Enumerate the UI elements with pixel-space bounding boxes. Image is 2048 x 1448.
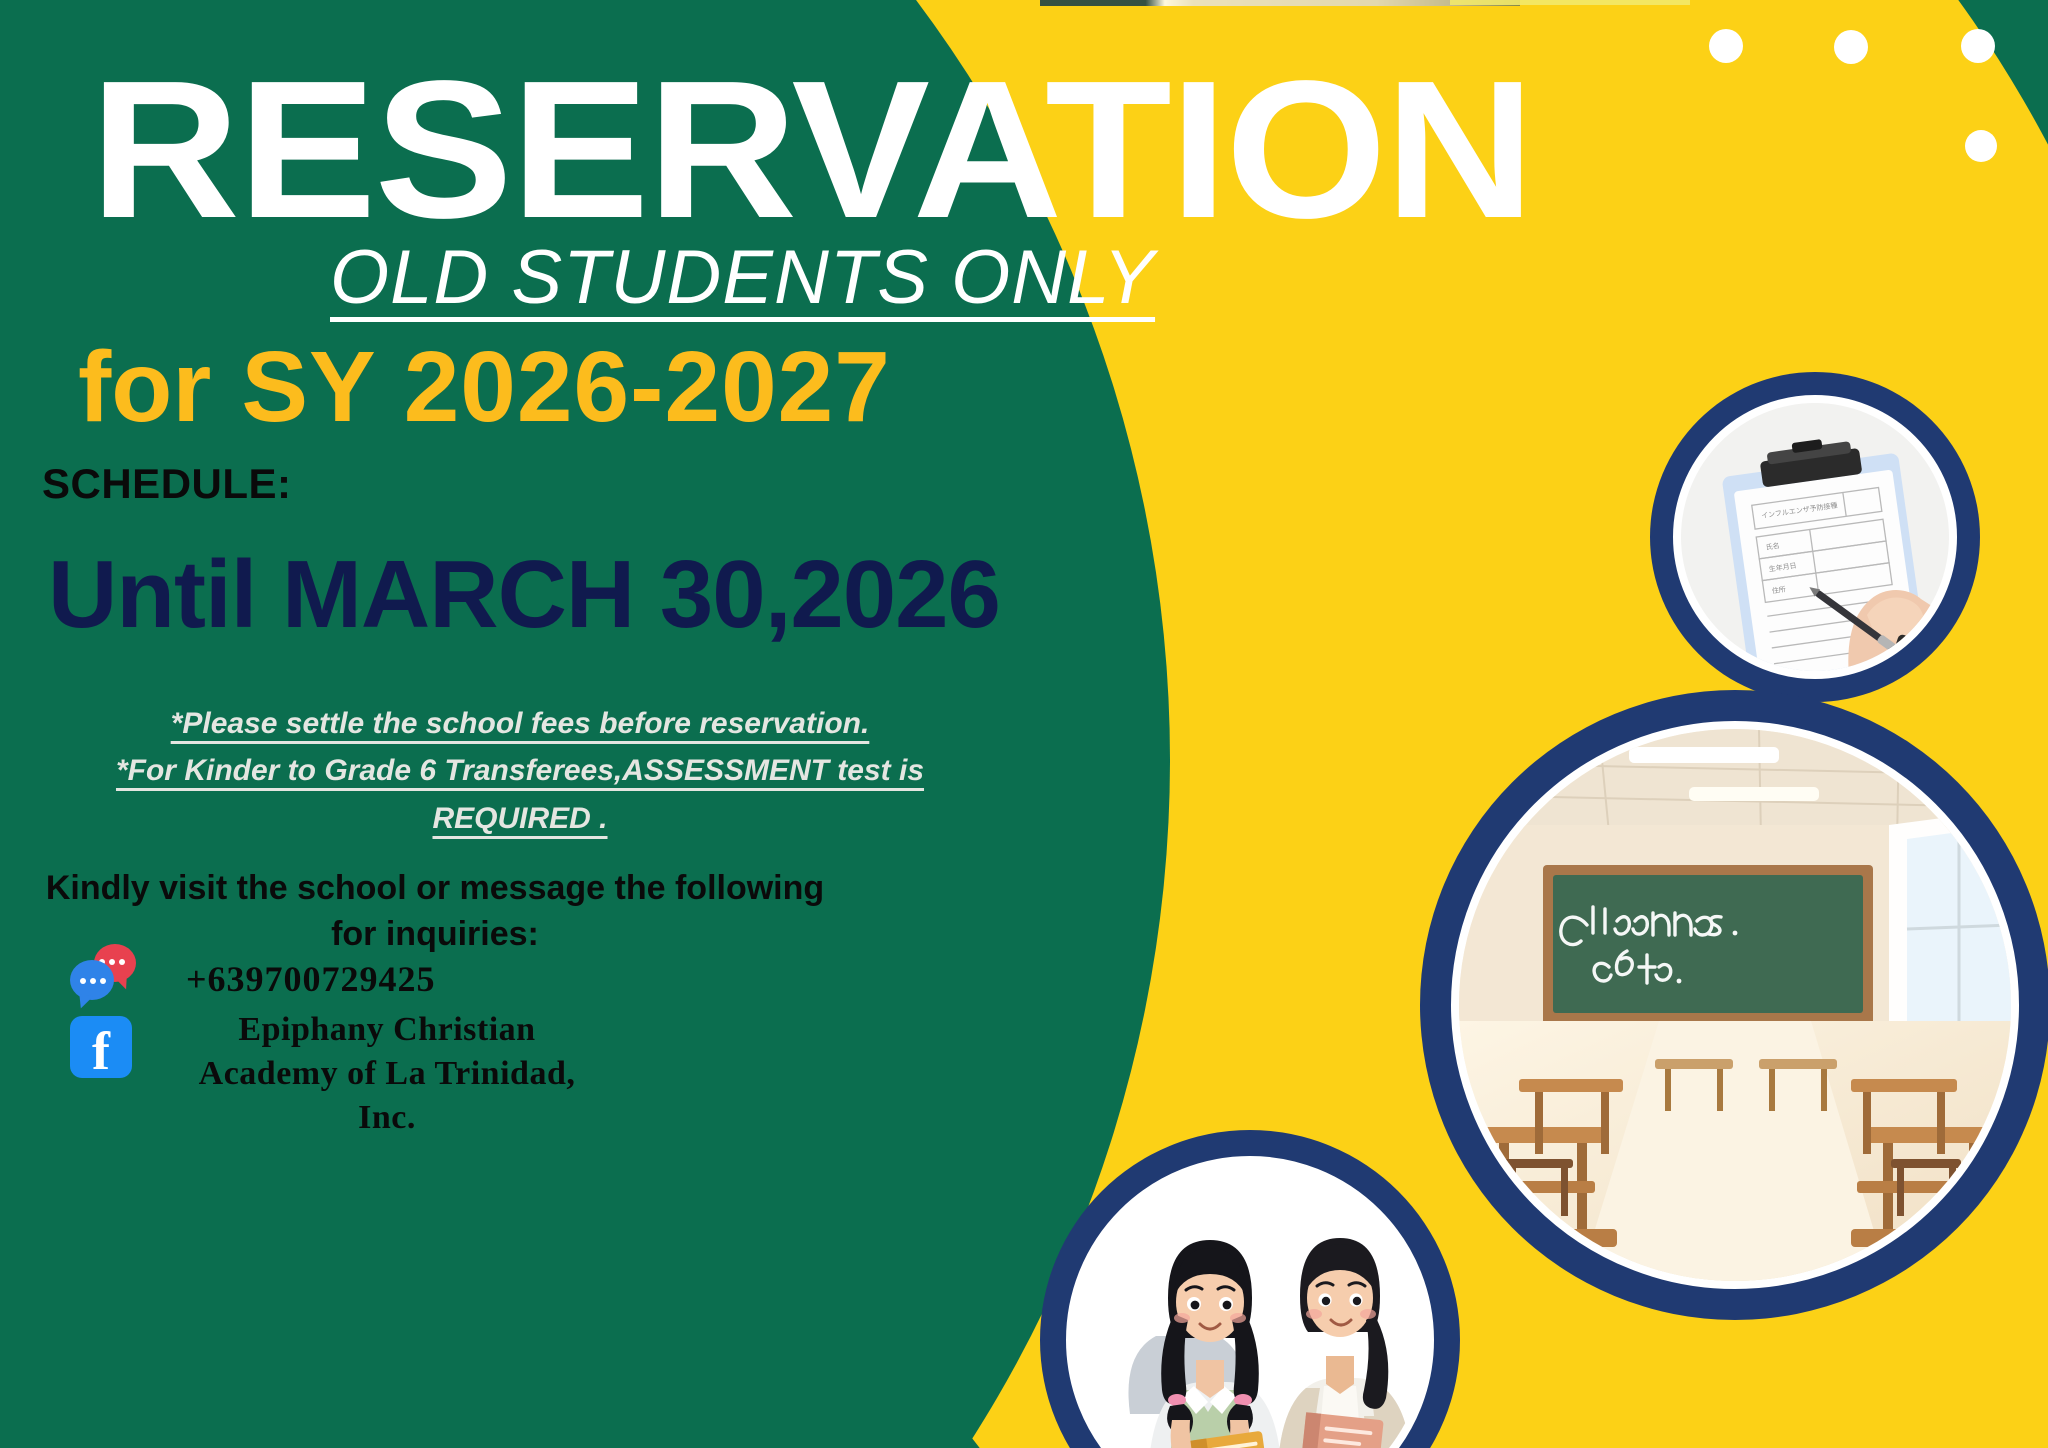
deadline-prefix: Until <box>48 541 256 648</box>
schedule-label: SCHEDULE: <box>42 460 292 508</box>
facebook-icon[interactable]: f <box>70 1016 132 1078</box>
inquiry-heading: Kindly visit the school or message the f… <box>40 866 830 958</box>
note-item: *Please settle the school fees before re… <box>171 700 870 747</box>
clipboard-photo: インフルエンザ予防接種 氏名 生年月日 住所 <box>1673 395 1957 679</box>
deadline-date: MARCH 30,2026 <box>282 541 1000 648</box>
contact-phone-number[interactable]: +639700729425 <box>186 958 436 1000</box>
messenger-dots-blue <box>80 978 106 984</box>
deadline-line: Until MARCH 30,2026 <box>48 540 1000 650</box>
school-year-value: SY 2026-2027 <box>241 330 891 445</box>
note-item: REQUIRED . <box>432 795 607 842</box>
photo-circle-classroom <box>1420 690 2048 1320</box>
classroom-illustration <box>1459 729 2011 1281</box>
page-title: RESERVATION <box>90 52 1533 248</box>
classroom-photo <box>1451 721 2019 1289</box>
school-year-line: for SY 2026-2027 <box>78 330 891 445</box>
notes-block: *Please settle the school fees before re… <box>70 700 970 842</box>
note-item: *For Kinder to Grade 6 Transferees,ASSES… <box>116 747 924 794</box>
students-illustration <box>1074 1164 1426 1448</box>
for-word: for <box>78 330 211 445</box>
contact-facebook-page[interactable]: Epiphany Christian Academy of La Trinida… <box>172 1008 602 1141</box>
students-photo <box>1066 1156 1434 1448</box>
subtitle-old-students: OLD STUDENTS ONLY <box>330 240 1155 316</box>
poster-canvas: RESERVATION OLD STUDENTS ONLY for SY 202… <box>0 0 2048 1448</box>
clipboard-illustration: インフルエンザ予防接種 氏名 生年月日 住所 <box>1681 403 1949 671</box>
messenger-icon[interactable] <box>70 944 136 1000</box>
photo-circle-clipboard: インフルエンザ予防接種 氏名 生年月日 住所 <box>1650 372 1980 702</box>
